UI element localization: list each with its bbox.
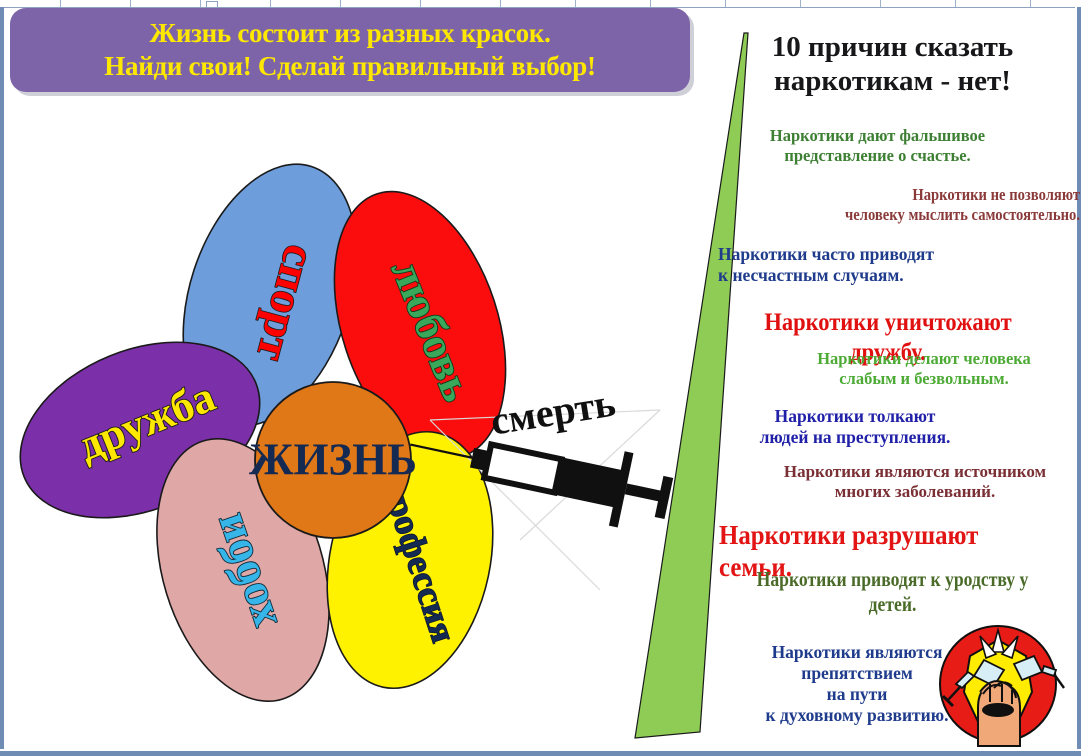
reason-item-2: Наркотики не позволяют человеку мыслить … <box>844 185 1081 226</box>
reason-6-line-1: Наркотики толкают <box>710 406 1000 427</box>
title-line-1: Жизнь состоит из разных красок. <box>149 17 550 50</box>
life-flower-diagram: спорт любовь дружба хобби профессия ЖИЗН… <box>0 120 690 720</box>
reason-1-line-2: представление о счастье. <box>735 146 1020 166</box>
reason-2-line-1: Наркотики не позволяют <box>844 185 1081 205</box>
syringe-death-label: смерть <box>487 380 618 444</box>
reason-7-line-1: Наркотики являются источником <box>755 462 1075 482</box>
reason-2-line-2: человеку мыслить самостоятельно. <box>844 205 1081 225</box>
fist-breaking-syringes-icon <box>928 622 1068 750</box>
reason-1-line-1: Наркотики дают фальшивое <box>735 126 1020 146</box>
reasons-title: 10 причин сказать наркотикам - нет! <box>720 30 1065 98</box>
title-line-2: Найди свои! Сделай правильный выбор! <box>104 50 595 83</box>
reason-5-line-2: слабым и безвольным. <box>775 369 1073 389</box>
reason-item-1: Наркотики дают фальшивое представление о… <box>735 126 1020 166</box>
frame-border-right <box>1077 7 1081 749</box>
reasons-title-line-1: 10 причин сказать <box>720 30 1065 64</box>
reasons-title-line-2: наркотикам - нет! <box>720 64 1065 98</box>
flower-center-label: ЖИЗНЬ <box>249 434 417 484</box>
frame-inner-right <box>1075 7 1077 749</box>
reason-item-9: Наркотики приводят к уродству у детей. <box>739 567 1046 617</box>
reason-5-line-1: Наркотики делают человека <box>775 349 1073 369</box>
reason-3-line-1: Наркотики часто приводят <box>718 244 1018 265</box>
reason-6-line-2: людей на преступления. <box>710 427 1000 448</box>
title-banner: Жизнь состоит из разных красок. Найди св… <box>10 8 690 92</box>
reason-item-5: Наркотики делают человека слабым и безво… <box>775 349 1073 389</box>
reason-item-6: Наркотики толкают людей на преступления. <box>710 406 1000 448</box>
ruler-bar <box>0 0 1081 8</box>
reason-item-7: Наркотики являются источником многих заб… <box>755 462 1075 503</box>
reason-3-line-2: к несчастным случаям. <box>718 265 1018 286</box>
slide-canvas: Жизнь состоит из разных красок. Найди св… <box>0 0 1081 756</box>
frame-border-bottom <box>0 751 1081 756</box>
reason-9-line-1: Наркотики приводят к уродству у детей. <box>739 567 1046 617</box>
ruler-marker <box>206 1 218 8</box>
reason-item-3: Наркотики часто приводят к несчастным сл… <box>718 244 1018 286</box>
reason-7-line-2: многих заболеваний. <box>755 482 1075 502</box>
